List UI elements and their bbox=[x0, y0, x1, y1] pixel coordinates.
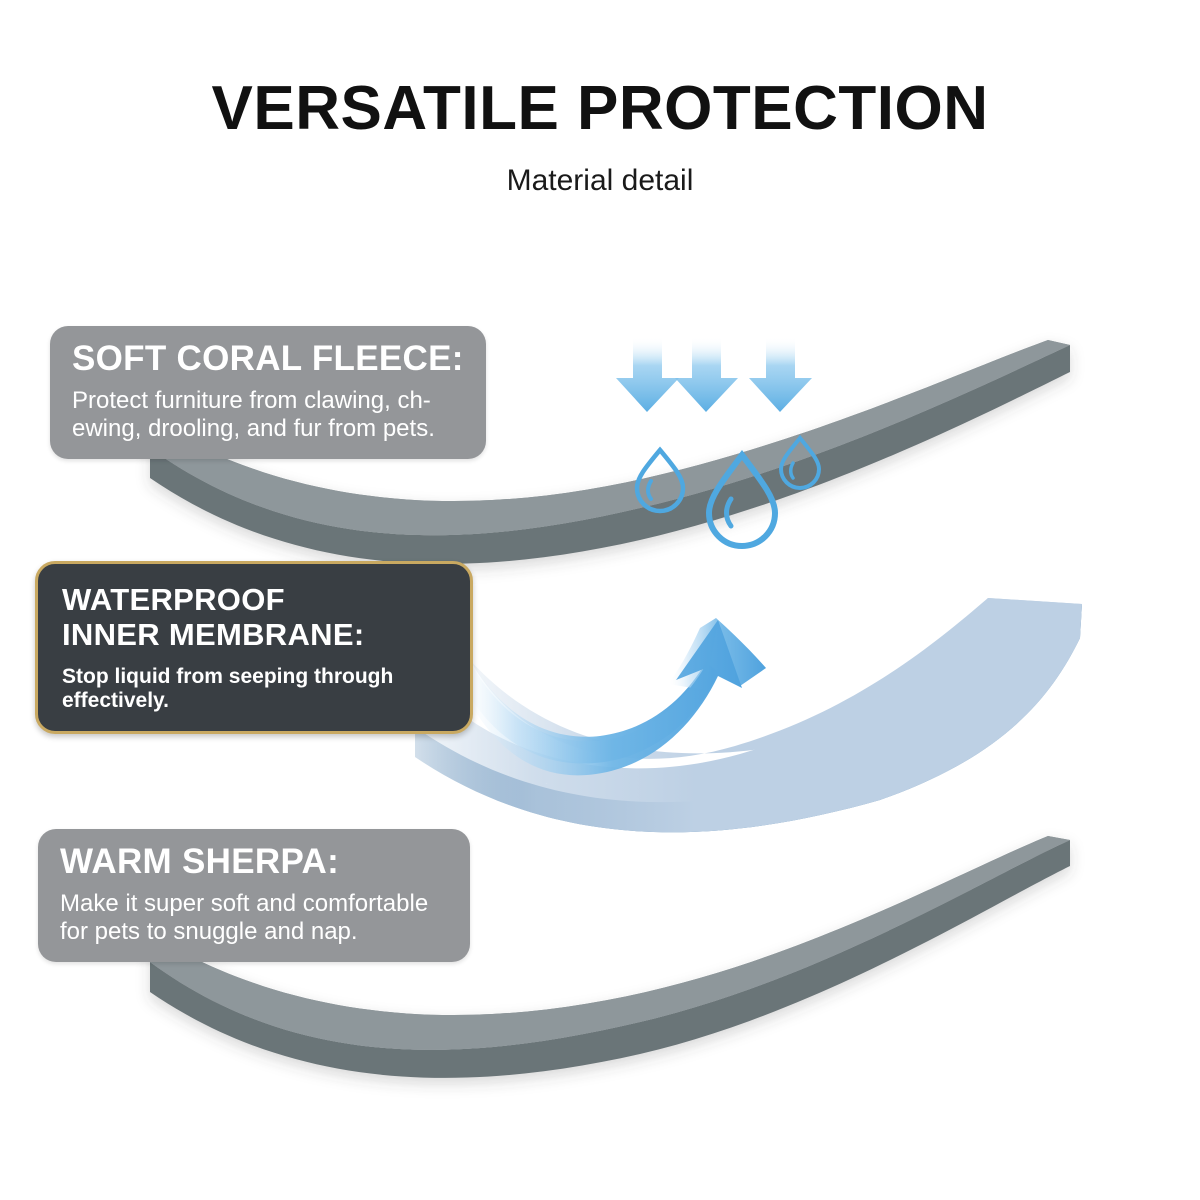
layer-label-waterproof-membrane[interactable]: WATERPROOF INNER MEMBRANE: Stop liquid f… bbox=[35, 561, 473, 734]
down-arrows-group bbox=[616, 337, 812, 412]
layer-heading-coral-fleece: SOFT CORAL FLEECE: bbox=[72, 340, 468, 377]
layer-heading-waterproof-membrane: WATERPROOF INNER MEMBRANE: bbox=[62, 582, 452, 653]
layer-label-coral-fleece[interactable]: SOFT CORAL FLEECE: Protect furniture fro… bbox=[50, 326, 486, 459]
layer-body-waterproof-membrane: Stop liquid from seeping through effecti… bbox=[62, 653, 452, 714]
down-arrow-icon bbox=[675, 337, 738, 412]
down-arrow-icon bbox=[749, 337, 812, 412]
layer-heading-warm-sherpa: WARM SHERPA: bbox=[60, 843, 452, 880]
down-arrow-icon bbox=[616, 337, 679, 412]
layer-body-coral-fleece: Protect furniture from clawing, ch- ewin… bbox=[72, 377, 468, 443]
layer-label-warm-sherpa[interactable]: WARM SHERPA: Make it super soft and comf… bbox=[38, 829, 470, 962]
infographic-page: VERSATILE PROTECTION Material detail bbox=[0, 0, 1200, 1200]
layer-body-warm-sherpa: Make it super soft and comfortable for p… bbox=[60, 880, 452, 946]
